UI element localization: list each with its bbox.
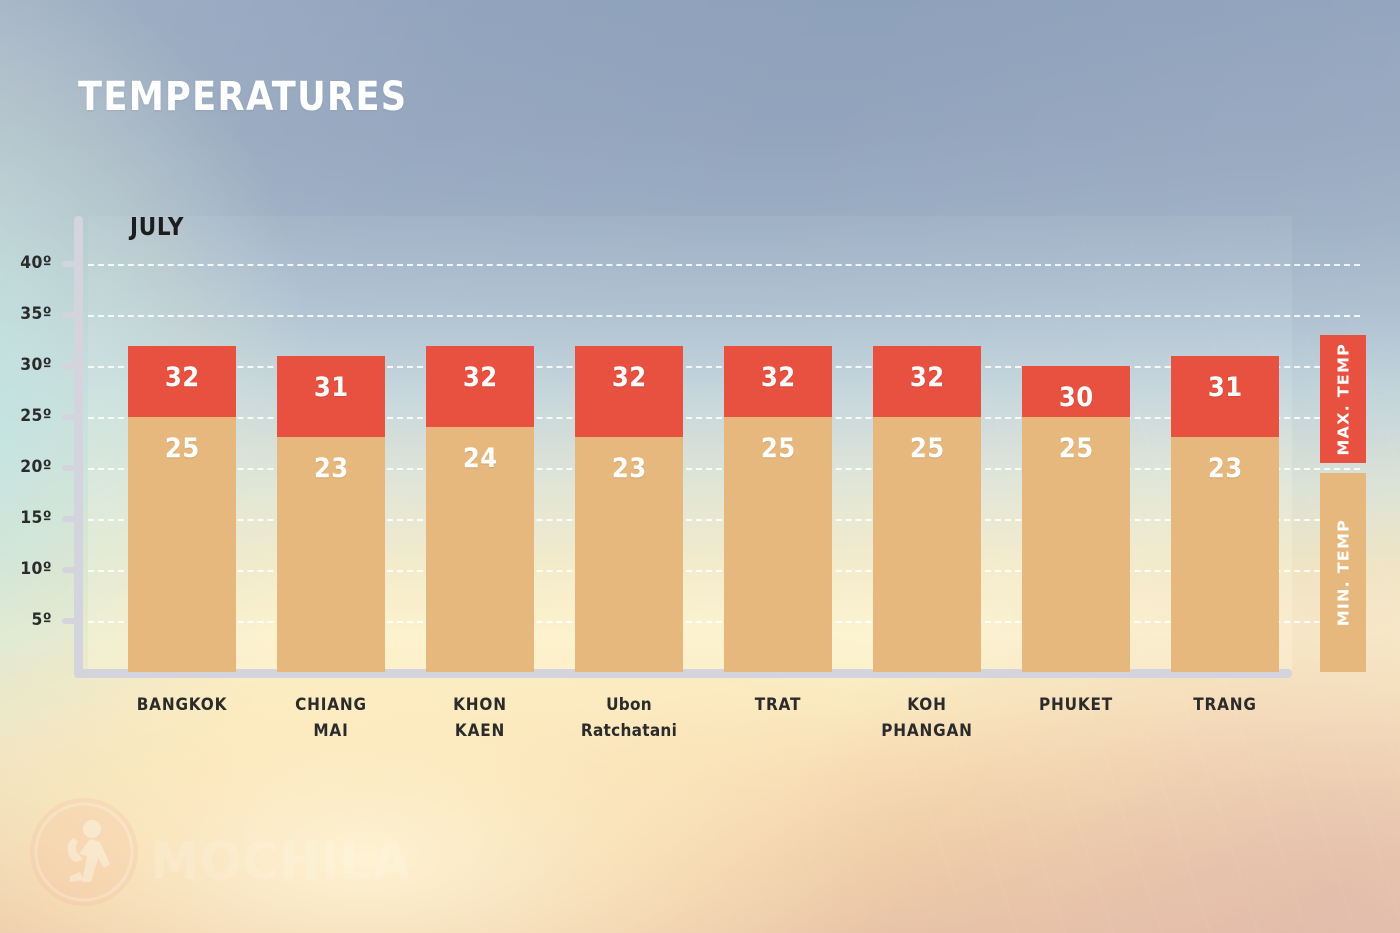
y-axis-label: 35º	[8, 304, 52, 324]
x-axis-category-label: CHIANG MAI	[250, 692, 412, 744]
legend-label-min-temp: MIN. TEMP	[1334, 519, 1352, 626]
bar-value-min-temp: 25	[1059, 433, 1094, 672]
bar-segment-min-temp[interactable]: 23	[1171, 437, 1279, 672]
y-axis-label: 10º	[8, 559, 52, 579]
x-axis-category-label: TRANG	[1144, 692, 1306, 718]
bar-value-max-temp: 32	[165, 362, 200, 417]
bar-value-max-temp: 31	[314, 372, 349, 438]
bar-value-max-temp: 32	[910, 362, 945, 417]
bar-group[interactable]: 3225	[724, 346, 832, 672]
bar-group[interactable]: 3225	[128, 346, 236, 672]
bar-segment-min-temp[interactable]: 24	[426, 427, 534, 672]
bar-value-max-temp: 31	[1208, 372, 1243, 438]
bar-group[interactable]: 3225	[873, 346, 981, 672]
bar-value-min-temp: 25	[165, 433, 200, 672]
bar-segment-max-temp[interactable]: 30	[1022, 366, 1130, 417]
bar-value-min-temp: 25	[910, 433, 945, 672]
bar-segment-max-temp[interactable]: 32	[128, 346, 236, 417]
bar-value-min-temp: 24	[463, 443, 498, 672]
bar-segment-max-temp[interactable]: 32	[873, 346, 981, 417]
bar-segment-max-temp[interactable]: 31	[277, 356, 385, 438]
chart-subtitle: JULY	[130, 212, 184, 241]
y-axis-label: 40º	[8, 253, 52, 273]
x-axis-category-label: TRAT	[697, 692, 859, 718]
bar-group[interactable]: 3123	[1171, 356, 1279, 672]
bar-group[interactable]: 3025	[1022, 366, 1130, 672]
x-axis-category-label: PHUKET	[995, 692, 1157, 718]
infographic-canvas: TEMPERATURES 5º10º15º20º25º30º35º40º JUL…	[0, 0, 1400, 933]
x-axis-category-label: KOH PHANGAN	[846, 692, 1008, 744]
legend-item-max-temp: MAX. TEMP	[1320, 335, 1366, 463]
y-axis-label: 5º	[8, 610, 52, 630]
y-axis-label: 20º	[8, 457, 52, 477]
legend-label-max-temp: MAX. TEMP	[1334, 343, 1352, 456]
legend-item-min-temp: MIN. TEMP	[1320, 473, 1366, 672]
gridline	[88, 264, 1360, 266]
bar-value-max-temp: 32	[761, 362, 796, 417]
bar-segment-max-temp[interactable]: 31	[1171, 356, 1279, 438]
bar-segment-min-temp[interactable]: 25	[724, 417, 832, 672]
x-axis-category-label: Ubon Ratchatani	[548, 692, 710, 744]
bar-value-min-temp: 23	[612, 453, 647, 672]
bar-value-max-temp: 30	[1059, 382, 1094, 417]
bar-segment-min-temp[interactable]: 25	[873, 417, 981, 672]
x-axis-category-label: BANGKOK	[101, 692, 263, 718]
bar-segment-max-temp[interactable]: 32	[724, 346, 832, 417]
temperature-bar-chart: 5º10º15º20º25º30º35º40º JULY 32253123322…	[0, 0, 1400, 933]
bar-group[interactable]: 3224	[426, 346, 534, 672]
y-axis-label: 30º	[8, 355, 52, 375]
y-axis-label: 15º	[8, 508, 52, 528]
y-axis-line	[74, 216, 83, 678]
bar-value-min-temp: 25	[761, 433, 796, 672]
bar-segment-min-temp[interactable]: 23	[277, 437, 385, 672]
bar-segment-max-temp[interactable]: 32	[426, 346, 534, 428]
bar-group[interactable]: 3123	[277, 356, 385, 672]
y-axis-label: 25º	[8, 406, 52, 426]
bar-segment-min-temp[interactable]: 25	[1022, 417, 1130, 672]
bar-value-max-temp: 32	[612, 362, 647, 438]
gridline	[88, 315, 1360, 317]
bar-value-max-temp: 32	[463, 362, 498, 428]
bar-group[interactable]: 3223	[575, 346, 683, 672]
bar-value-min-temp: 23	[1208, 453, 1243, 672]
bar-segment-min-temp[interactable]: 23	[575, 437, 683, 672]
x-axis-category-label: KHON KAEN	[399, 692, 561, 744]
bar-value-min-temp: 23	[314, 453, 349, 672]
bar-segment-max-temp[interactable]: 32	[575, 346, 683, 438]
bar-segment-min-temp[interactable]: 25	[128, 417, 236, 672]
